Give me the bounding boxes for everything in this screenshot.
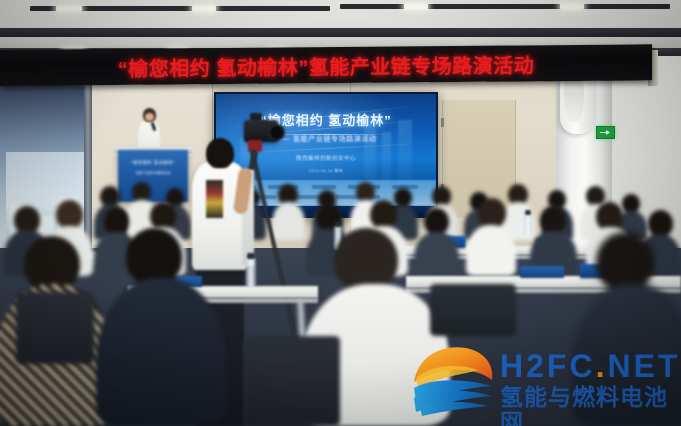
h2fc-logo-icon [412, 344, 496, 416]
chair [430, 284, 516, 336]
watermark-brand: H2FC.NET [500, 350, 681, 382]
audience-front-left-2 [96, 228, 226, 426]
watermark-tld: NET [607, 348, 680, 384]
exit-sign [596, 126, 615, 139]
water-bottle [246, 258, 256, 287]
chair [244, 336, 340, 426]
screen-organizer: 陕西榆林创新创业中心 [216, 154, 436, 162]
watermark-chinese: 氢能与燃料电池网 [500, 385, 681, 426]
camera-lens [268, 124, 285, 141]
conference-room-photo: “榆您相约 氢动榆林”氢能产业链专场路演活动 “榆您相约 氢动榆林” —— 氢能… [0, 0, 681, 426]
ceiling-beam [0, 28, 681, 37]
water-bottle [524, 214, 532, 236]
booklet [520, 266, 564, 278]
bottle-cap [247, 253, 255, 259]
camera-handle [250, 113, 262, 121]
watermark: H2FC.NET 氢能与燃料电池网 [404, 336, 681, 426]
led-banner-text: “榆您相约 氢动榆林”氢能产业链专场路演活动 [118, 49, 535, 82]
led-banner: “榆您相约 氢动榆林”氢能产业链专场路演活动 [0, 44, 652, 86]
host-face [145, 113, 154, 121]
chair [16, 292, 94, 364]
bottle-cap [525, 210, 531, 215]
watermark-brand-name: H2FC [500, 348, 596, 384]
watermark-dot: . [596, 348, 608, 384]
podium-text-line1: “榆您相约 氢动榆林” [118, 160, 188, 166]
tshirt-graphic [206, 180, 223, 218]
cameraman-head [206, 138, 234, 168]
bottle-cap [335, 222, 341, 227]
watermark-text: H2FC.NET 氢能与燃料电池网 [500, 350, 681, 426]
